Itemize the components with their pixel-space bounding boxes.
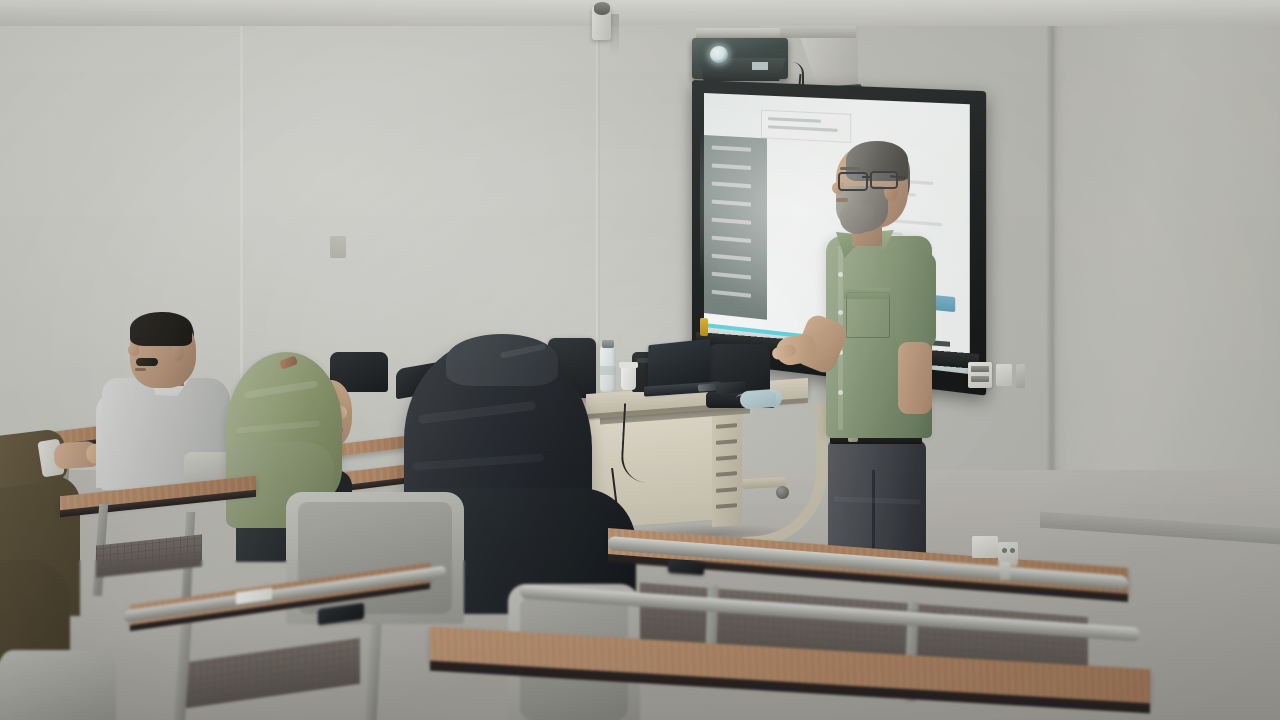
attendee-man-nose bbox=[128, 344, 139, 356]
attendee-man-mustache bbox=[136, 358, 158, 366]
presenter-chin-beard bbox=[840, 204, 874, 234]
presenter-shirt-button bbox=[838, 272, 843, 277]
screen-sidebar[interactable] bbox=[704, 135, 767, 320]
screen-menu-item[interactable] bbox=[712, 254, 751, 262]
presenter-mouth bbox=[836, 198, 848, 202]
presenter-sleeve bbox=[896, 252, 936, 350]
outlet-socket-hole bbox=[1010, 548, 1015, 553]
wall-vent-plate bbox=[330, 236, 346, 258]
wall-outlet-plate bbox=[972, 536, 998, 558]
camera-shadow bbox=[610, 14, 619, 54]
screen-menu-item[interactable] bbox=[712, 145, 751, 151]
light-switch-key[interactable] bbox=[971, 366, 989, 372]
screen-menu-item[interactable] bbox=[712, 218, 751, 225]
smartphone-on-front-desk bbox=[668, 559, 704, 576]
projector-lens-icon bbox=[710, 46, 728, 63]
wall-sensor-plate bbox=[1016, 364, 1025, 388]
auditorium-seat-bottom-left[interactable] bbox=[0, 650, 116, 720]
water-bottle-cap bbox=[602, 340, 614, 348]
ceiling bbox=[0, 0, 1280, 26]
projector-label bbox=[752, 62, 768, 70]
screen-menu-item[interactable] bbox=[712, 200, 751, 207]
presenter-eyebrow bbox=[840, 167, 860, 170]
classroom-photo bbox=[0, 0, 1280, 720]
whiteboard-marker bbox=[698, 383, 716, 391]
screen-menu-item[interactable] bbox=[712, 163, 751, 170]
presenter-shirt-button bbox=[838, 390, 843, 395]
camera-lens-icon bbox=[594, 2, 610, 15]
screen-menu-item[interactable] bbox=[712, 290, 751, 298]
outlet-socket-hole bbox=[1002, 548, 1007, 553]
attendee-man-eyebrow bbox=[134, 338, 151, 341]
eyeglasses-lens-left bbox=[838, 172, 868, 191]
display-side-marker bbox=[700, 318, 708, 337]
attendee-man-ear bbox=[172, 344, 184, 361]
light-switch-plate-secondary[interactable] bbox=[996, 364, 1012, 386]
attendee-man-mouth bbox=[135, 368, 146, 371]
presenter-right-arm bbox=[898, 342, 932, 414]
light-switch-key[interactable] bbox=[971, 376, 989, 382]
eyeglasses-lens-right bbox=[870, 171, 898, 189]
hijab-crown bbox=[446, 334, 558, 386]
paper-cup-lid bbox=[619, 362, 638, 368]
screen-card-line bbox=[768, 125, 838, 132]
podium-power-cable bbox=[620, 403, 650, 482]
screen-card bbox=[761, 110, 851, 143]
screen-menu-item[interactable] bbox=[712, 272, 751, 280]
outlet-plug-cord bbox=[1000, 562, 1010, 580]
smartphone-on-podium bbox=[716, 381, 747, 394]
face-mask-strap bbox=[736, 394, 750, 403]
water-bottle-label bbox=[600, 366, 616, 375]
presenter-shirt-button bbox=[838, 310, 843, 315]
screen-menu-item[interactable] bbox=[712, 236, 751, 243]
presenter-pocket-flap bbox=[844, 288, 890, 299]
podium-caster-wheel bbox=[776, 486, 789, 499]
screen-card-line bbox=[768, 117, 821, 123]
screen-menu-item[interactable] bbox=[712, 182, 751, 189]
wall-seam-left bbox=[240, 0, 243, 430]
paper-cup bbox=[621, 366, 636, 390]
